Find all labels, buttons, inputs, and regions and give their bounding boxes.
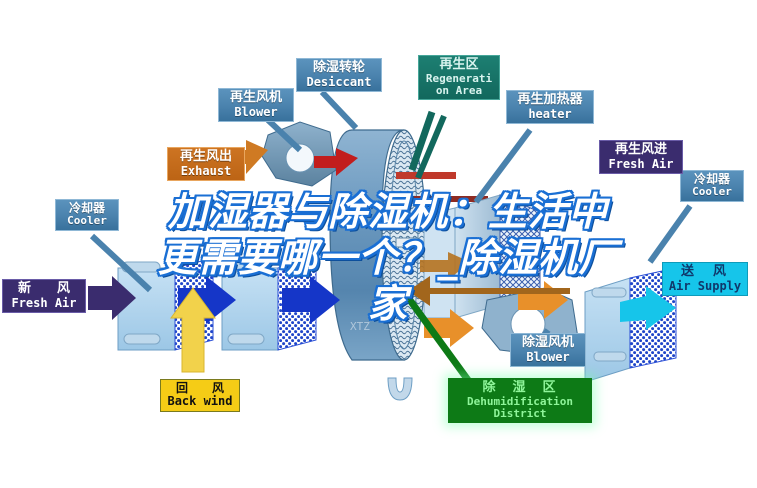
label-en: Dehumidification (453, 396, 587, 408)
label-en-2: on Area (423, 85, 495, 97)
label-en: Air Supply (667, 280, 743, 293)
label-cn: 再生风出 (172, 150, 240, 165)
label-desiccant-wheel[interactable]: 除湿转轮 Desiccant (296, 58, 382, 92)
label-cn: 新 风 (7, 282, 81, 297)
label-regeneration-fresh-air[interactable]: 再生风进 Fresh Air (599, 140, 683, 174)
desiccant-rotor: XTZ (330, 130, 426, 400)
label-en: Regenerati (423, 73, 495, 85)
label-cn: 除湿转轮 (301, 61, 377, 76)
label-fresh-air-inlet[interactable]: 新 风 Fresh Air (2, 279, 86, 313)
label-regeneration-area[interactable]: 再生区 Regenerati on Area (418, 55, 500, 100)
label-regeneration-exhaust[interactable]: 再生风出 Exhaust (167, 147, 245, 181)
svg-text:XTZ: XTZ (350, 320, 370, 333)
label-en: Fresh Air (604, 158, 678, 171)
label-cn: 再生风机 (223, 91, 289, 106)
diagram-canvas: XTZ (0, 0, 757, 488)
label-en: Desiccant (301, 76, 377, 89)
label-dehumidification-district[interactable]: 除 湿 区 Dehumidification District (448, 378, 592, 423)
label-cn: 冷却器 (60, 202, 114, 215)
label-en-2: District (453, 408, 587, 420)
rotor-seal-mid (396, 196, 488, 202)
label-dehumidifying-blower[interactable]: 除湿风机 Blower (510, 333, 586, 367)
label-en: Fresh Air (7, 297, 81, 310)
label-air-supply[interactable]: 送 风 Air Supply (662, 262, 748, 296)
label-cooler-right[interactable]: 冷却器 Cooler (680, 170, 744, 202)
rotor-seal-top (396, 172, 456, 179)
label-en: Cooler (685, 186, 739, 198)
label-en: Back wind (165, 395, 235, 408)
regen-blower-housing (262, 122, 336, 186)
label-back-wind[interactable]: 回 风 Back wind (160, 379, 240, 412)
label-en: Blower (515, 351, 581, 364)
label-regeneration-blower[interactable]: 再生风机 Blower (218, 88, 294, 122)
label-cn: 送 风 (667, 265, 743, 280)
label-cn: 除 湿 区 (453, 381, 587, 396)
label-cn: 再生加热器 (511, 93, 589, 108)
label-cn: 除湿风机 (515, 336, 581, 351)
label-cn: 冷却器 (685, 173, 739, 186)
label-en: Exhaust (172, 165, 240, 178)
label-en: Cooler (60, 215, 114, 227)
label-regeneration-heater[interactable]: 再生加热器 heater (506, 90, 594, 124)
label-en: heater (511, 108, 589, 121)
label-cooler-left[interactable]: 冷却器 Cooler (55, 199, 119, 231)
label-cn: 回 风 (165, 382, 235, 395)
label-cn: 再生区 (423, 58, 495, 73)
label-en: Blower (223, 106, 289, 119)
label-cn: 再生风进 (604, 143, 678, 158)
